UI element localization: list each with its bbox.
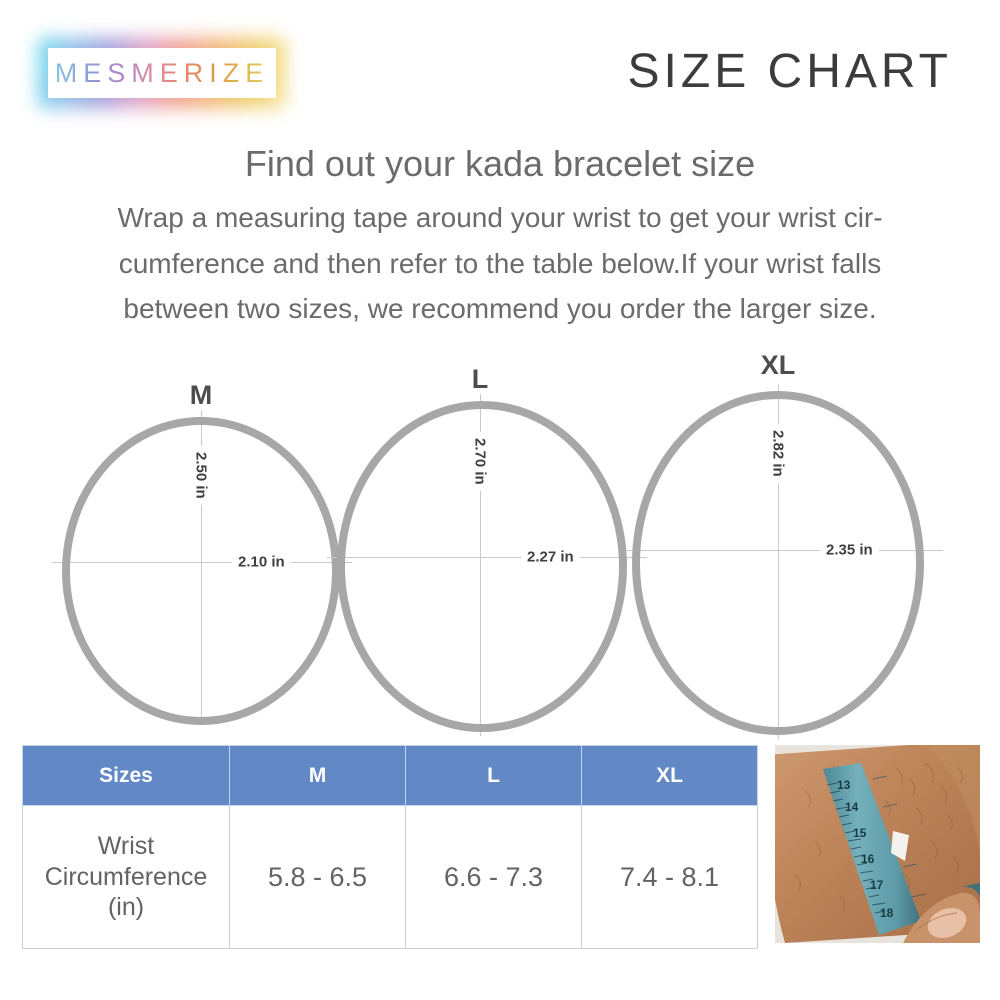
row-label-line: Circumference bbox=[27, 862, 225, 893]
row-label-wrist-circumference: Wrist Circumference (in) bbox=[23, 806, 230, 949]
row-label-line: (in) bbox=[27, 892, 225, 923]
logo-plate: MESMERIZE bbox=[48, 48, 276, 98]
size-table: Sizes M L XL Wrist Circumference (in) 5.… bbox=[22, 745, 758, 949]
oval-height-label-xl: 2.82 in bbox=[769, 424, 788, 483]
row-label-line: Wrist bbox=[27, 831, 225, 862]
brand-logo: MESMERIZE bbox=[48, 48, 276, 98]
oval-diagrams: M 2.50 in 2.10 in L 2.70 in 2.27 in XL 2… bbox=[0, 350, 1000, 740]
tape-number: 18 bbox=[880, 906, 894, 920]
cell-wrist-l: 6.6 - 7.3 bbox=[406, 806, 582, 949]
table-header-l: L bbox=[406, 746, 582, 806]
table-header-xl: XL bbox=[582, 746, 758, 806]
wrist-measurement-photo: 13 14 15 16 17 18 bbox=[775, 745, 980, 943]
oval-size-label-l: L bbox=[472, 364, 489, 395]
tape-number: 15 bbox=[853, 826, 867, 840]
oval-width-label-xl: 2.35 in bbox=[820, 541, 879, 560]
oval-size-label-xl: XL bbox=[761, 350, 796, 381]
intro-block: Find out your kada bracelet size Wrap a … bbox=[0, 142, 1000, 331]
intro-body-line: between two sizes, we recommend you orde… bbox=[44, 286, 956, 331]
oval-size-label-m: M bbox=[190, 380, 213, 411]
tape-number: 14 bbox=[845, 800, 859, 814]
table-header-m: M bbox=[230, 746, 406, 806]
table-row: Wrist Circumference (in) 5.8 - 6.5 6.6 -… bbox=[23, 806, 758, 949]
table-header-sizes: Sizes bbox=[23, 746, 230, 806]
tape-number: 17 bbox=[870, 878, 884, 892]
tape-number: 16 bbox=[861, 852, 875, 866]
cell-wrist-xl: 7.4 - 8.1 bbox=[582, 806, 758, 949]
intro-body-line: cumference and then refer to the table b… bbox=[44, 241, 956, 286]
oval-height-label-l: 2.70 in bbox=[471, 432, 490, 491]
cell-wrist-m: 5.8 - 6.5 bbox=[230, 806, 406, 949]
page-title: SIZE CHART bbox=[628, 44, 952, 99]
intro-body-line: Wrap a measuring tape around your wrist … bbox=[44, 195, 956, 240]
intro-heading: Find out your kada bracelet size bbox=[0, 142, 1000, 185]
oval-width-label-m: 2.10 in bbox=[232, 553, 291, 572]
oval-height-label-m: 2.50 in bbox=[192, 446, 211, 505]
table-header-row: Sizes M L XL bbox=[23, 746, 758, 806]
wrist-photo-illustration: 13 14 15 16 17 18 bbox=[775, 745, 980, 943]
intro-body: Wrap a measuring tape around your wrist … bbox=[44, 195, 956, 331]
brand-wordmark: MESMERIZE bbox=[55, 58, 270, 89]
oval-width-label-l: 2.27 in bbox=[521, 548, 580, 567]
tape-number: 13 bbox=[837, 778, 851, 792]
